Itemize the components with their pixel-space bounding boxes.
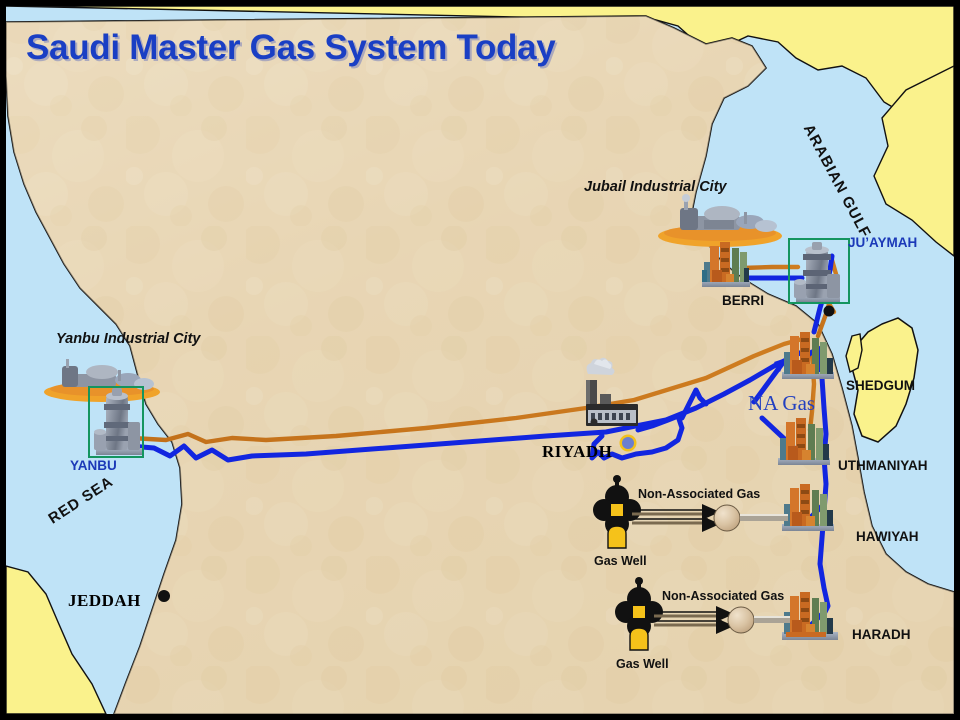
facility-icon-layer — [6, 6, 954, 714]
riyadh-capital-marker — [620, 435, 637, 452]
non-associated-gas-flow-1 — [632, 504, 788, 532]
gas-well-2-icon — [615, 577, 663, 650]
riyadh-factory-icon — [586, 358, 638, 426]
juaymah-plant-icon — [794, 242, 840, 302]
yanbu-industrial-city-icon — [44, 359, 160, 402]
shedgum-plant-icon — [782, 332, 834, 379]
map-canvas: Saudi Master Gas System Today Jubail Ind… — [6, 6, 954, 714]
hawiyah-plant-icon — [782, 484, 834, 531]
haradh-plant-icon — [782, 592, 838, 640]
map-screenshot: Saudi Master Gas System Today Jubail Ind… — [0, 0, 960, 720]
gas-well-1-icon — [593, 475, 641, 548]
jubail-industrial-city-icon — [658, 194, 782, 247]
berri-plant-icon — [702, 242, 750, 287]
uthmaniyah-plant-icon — [778, 418, 830, 465]
non-associated-gas-flow-2 — [654, 606, 790, 634]
jeddah-city-dot — [158, 590, 170, 602]
